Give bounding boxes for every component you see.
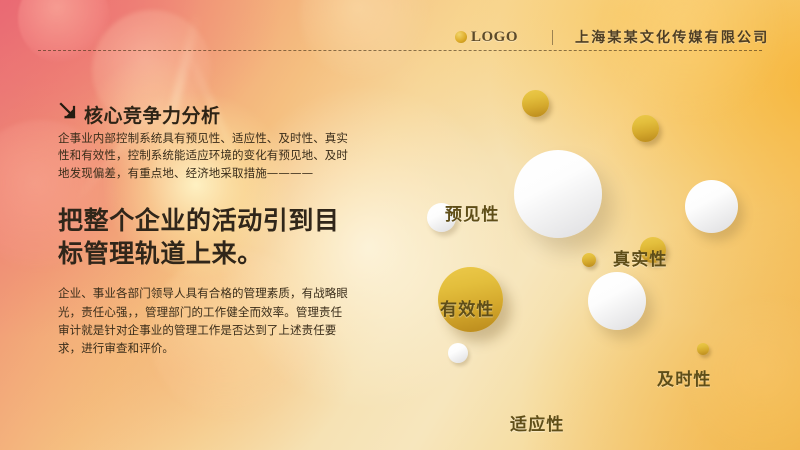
body-paragraph: 企业、事业各部门领导人具有合格的管理素质，有战略眼光，责任心强，，管理部门的工作… [58,284,348,357]
bubble-white-8 [588,272,646,330]
slide-canvas: LOGO 上海某某文化传媒有限公司 核心竞争力分析 企事业内部控制系统具有预见性… [0,0,800,450]
bubble-white-3 [685,180,738,233]
bubble-cluster: 预见性真实性有效性及时性适应性 [400,75,800,450]
logo-text: LOGO [471,29,518,46]
bubble-label-4: 适应性 [510,410,565,435]
bubble-white-2 [514,150,602,238]
intro-paragraph: 企事业内部控制系统具有预见性、适应性、及时性、真实性和有效性，控制系统能适应环境… [58,130,356,182]
arrow-down-right-icon [58,100,80,124]
bubble-white-9 [448,343,468,363]
section-title-row: 核心竞争力分析 [58,100,358,127]
section-title: 核心竞争力分析 [84,106,221,127]
bubble-gold-6 [582,253,596,267]
header-brand-row: LOGO 上海某某文化传媒有限公司 [455,27,769,47]
left-content-pane: 核心竞争力分析 企事业内部控制系统具有预见性、适应性、及时性、真实性和有效性，控… [58,100,358,369]
slide-header: LOGO 上海某某文化传媒有限公司 [0,0,800,52]
company-name: 上海某某文化传媒有限公司 [575,27,769,47]
bubble-label-0: 预见性 [445,200,500,225]
bubble-label-1: 真实性 [613,245,668,270]
bubble-label-3: 及时性 [657,365,712,390]
bubble-label-2: 有效性 [440,295,495,320]
bubble-gold-10 [697,343,709,355]
header-separator [552,30,553,45]
logo-bullet-icon [455,31,467,43]
bubble-gold-1 [632,115,659,142]
bubble-gold-0 [522,90,549,117]
big-heading: 把整个企业的活动引到目标管理轨道上来。 [58,204,358,270]
